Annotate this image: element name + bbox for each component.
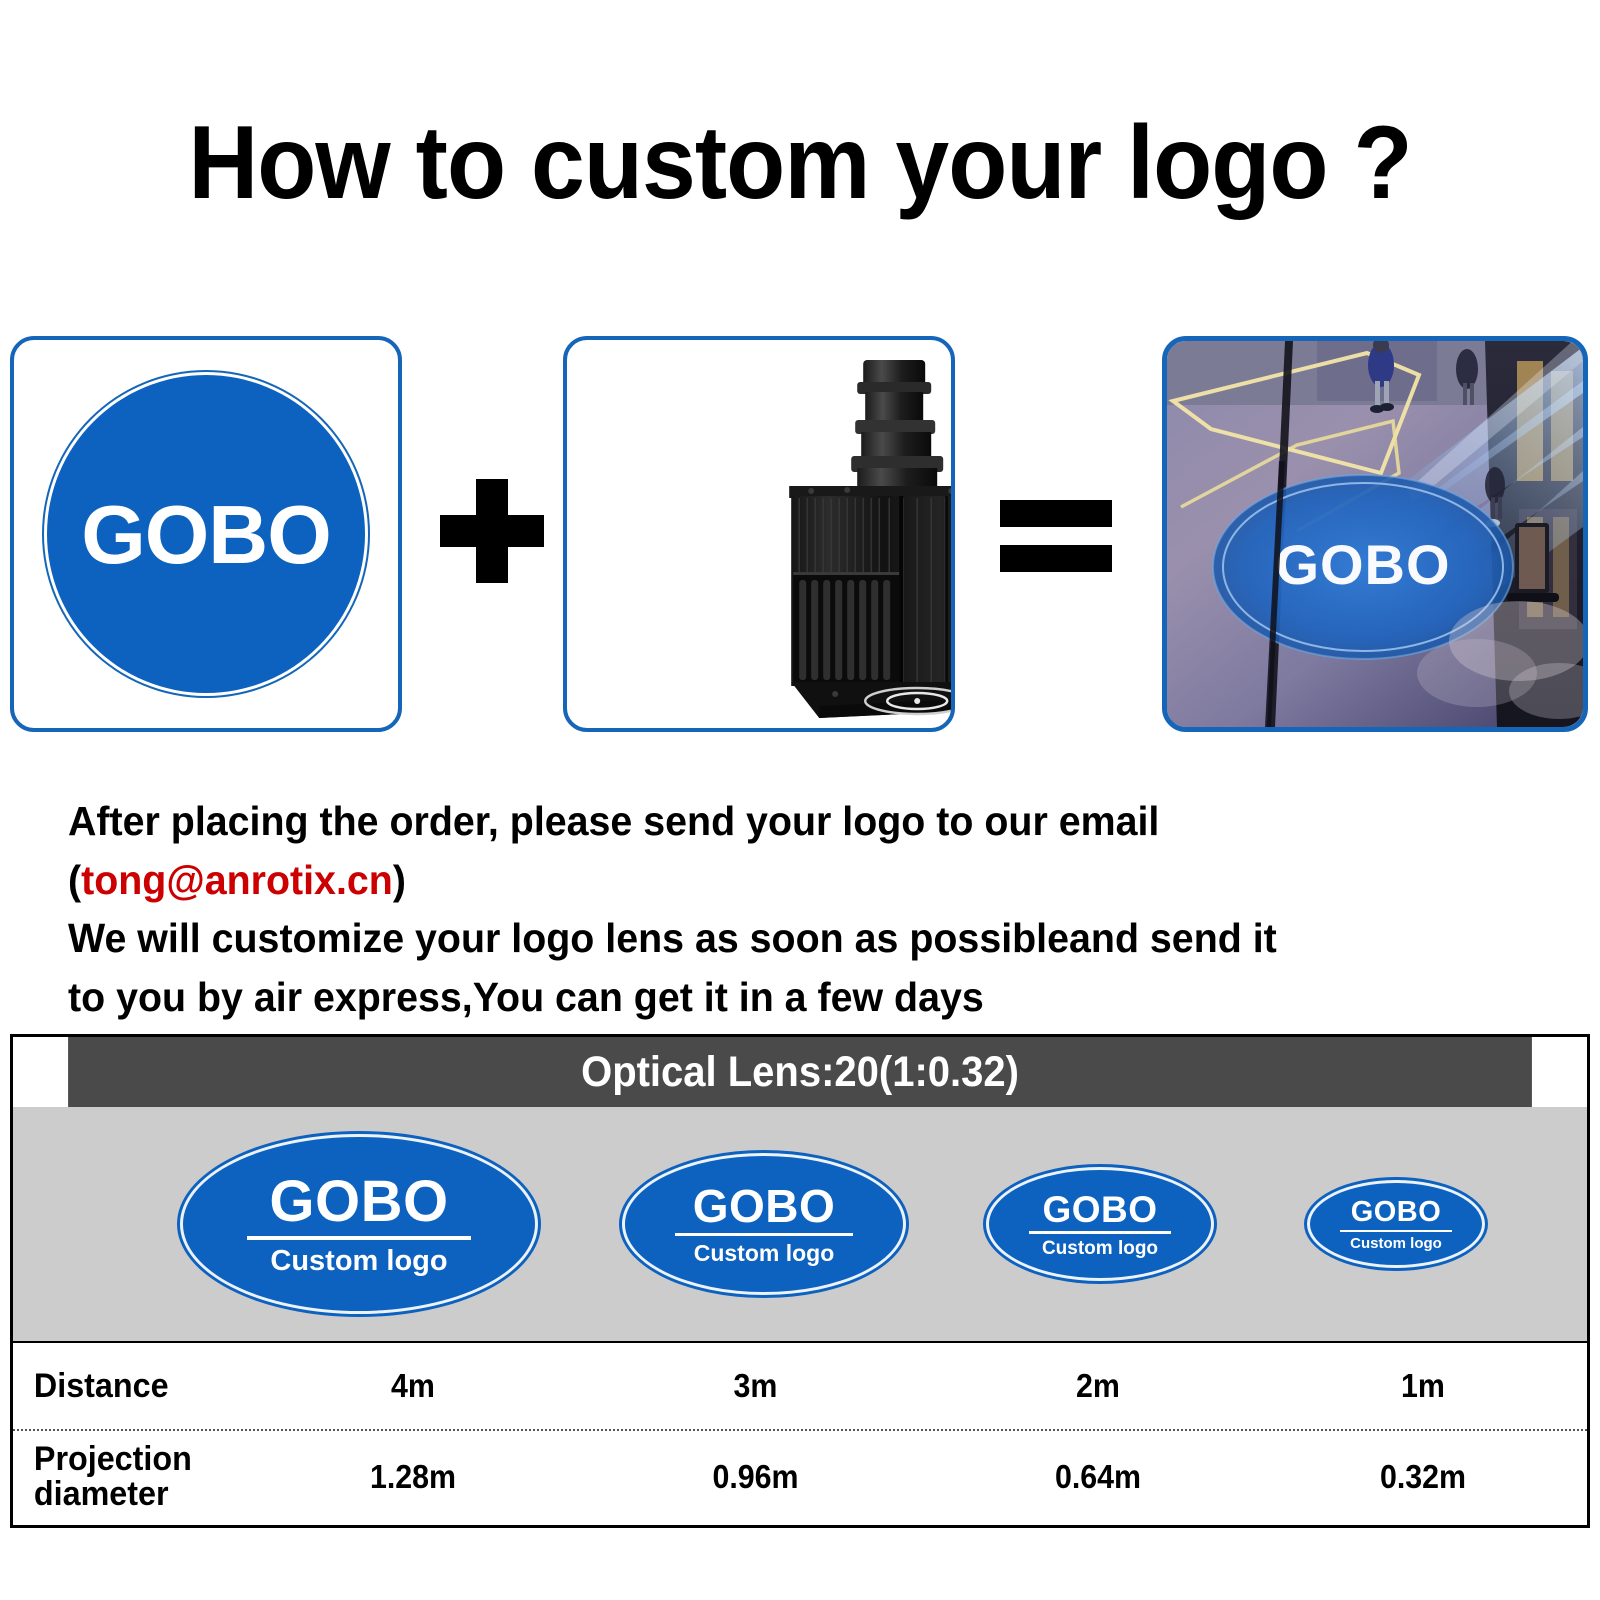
gobo-projector-illustration [739, 352, 955, 724]
gobo-ellipse-rule [1340, 1230, 1452, 1232]
distance-value-1: 3m [592, 1367, 919, 1405]
instructions-line-3: We will customize your logo lens as soon… [68, 909, 1508, 968]
table-row: Projection diameter 1.28m 0.96m 0.64m 0.… [13, 1431, 1587, 1523]
gobo-ellipse-main: GOBO [1042, 1191, 1157, 1228]
diameter-value-1: 0.96m [592, 1458, 919, 1496]
table-row: Distance 4m 3m 2m 1m [13, 1343, 1587, 1431]
gobo-ellipse: GOBO Custom logo [983, 1164, 1217, 1284]
spec-table-header: Optical Lens:20(1:0.32) [68, 1037, 1532, 1107]
gobo-sample-0: GOBO Custom logo [177, 1131, 541, 1317]
gobo-disc: GOBO [47, 375, 365, 693]
gobo-ellipse-sub: Custom logo [270, 1247, 447, 1276]
gobo-projector-panel [563, 336, 955, 732]
distance-value-2: 2m [946, 1367, 1250, 1405]
gobo-ellipse: GOBO Custom logo [619, 1150, 909, 1298]
svg-text:GOBO: GOBO [1275, 533, 1450, 596]
gobo-ellipse-main: GOBO [693, 1183, 836, 1229]
gobo-ellipse: GOBO Custom logo [177, 1131, 541, 1317]
gobo-size-row: GOBO Custom logo GOBO Custom logo GOBO C… [13, 1107, 1587, 1343]
spec-table: Optical Lens:20(1:0.32) GOBO Custom logo… [10, 1034, 1590, 1528]
distance-value-0: 4m [261, 1367, 565, 1405]
gobo-ellipse-sub: Custom logo [694, 1242, 835, 1265]
contact-email[interactable]: tong@anrotix.cn [81, 857, 393, 903]
paren-open: ( [68, 857, 81, 903]
mall-projection-photo: GOBO [1167, 341, 1583, 727]
instructions-line-1: After placing the order, please send you… [68, 792, 1508, 851]
infographic-root: How to custom your logo ? GOBO [0, 0, 1600, 1600]
diameter-value-3: 0.32m [1276, 1458, 1570, 1496]
gobo-ellipse-sub: Custom logo [1042, 1239, 1158, 1258]
gobo-ellipse-main: GOBO [269, 1173, 448, 1231]
distance-value-3: 1m [1276, 1367, 1570, 1405]
gobo-sample-2: GOBO Custom logo [983, 1164, 1217, 1284]
gobo-glass-panel: GOBO [10, 336, 402, 732]
gobo-ellipse-rule [675, 1233, 853, 1236]
gobo-ellipse-sub: Custom logo [1350, 1236, 1442, 1251]
gobo-ellipse-main: GOBO [1351, 1198, 1442, 1227]
diameter-value-2: 0.64m [946, 1458, 1250, 1496]
paren-close: ) [393, 857, 406, 903]
plus-icon [432, 470, 552, 590]
gobo-sample-1: GOBO Custom logo [619, 1150, 909, 1298]
gobo-sample-3: GOBO Custom logo [1304, 1177, 1488, 1271]
row-label-text: Projection diameter [34, 1440, 192, 1513]
gobo-ellipse-rule [1029, 1231, 1171, 1234]
gobo-disc-label: GOBO [81, 493, 331, 576]
instructions-line-4: to you by air express,You can get it in … [68, 968, 1508, 1027]
row-label-distance: Distance [13, 1369, 236, 1404]
instructions-line-2: (tong@anrotix.cn) [68, 851, 1508, 910]
gobo-ellipse: GOBO Custom logo [1304, 1177, 1488, 1271]
gobo-ellipse-rule [247, 1236, 471, 1240]
equals-icon [1000, 500, 1112, 576]
page-title: How to custom your logo ? [56, 104, 1544, 223]
projection-result-panel: GOBO [1162, 336, 1588, 732]
instructions-text: After placing the order, please send you… [68, 792, 1508, 1027]
row-label-projection-diameter: Projection diameter [13, 1442, 236, 1511]
diameter-value-0: 1.28m [261, 1458, 565, 1496]
